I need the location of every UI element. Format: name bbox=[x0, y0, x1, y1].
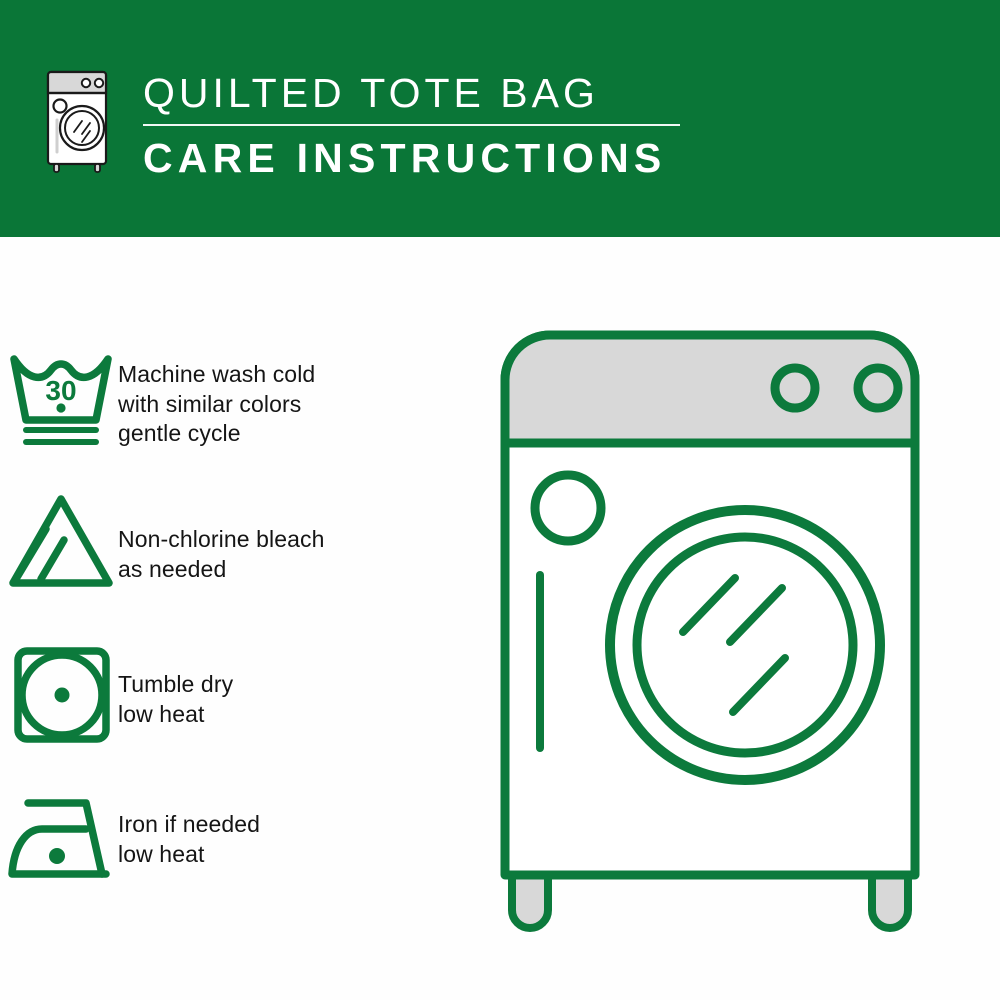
care-text-line: Iron if needed bbox=[118, 810, 260, 840]
care-instructions-infographic: QUILTED TOTE BAG CARE INSTRUCTIONS bbox=[0, 0, 1000, 1000]
non-chlorine-bleach-triangle-icon bbox=[0, 493, 118, 591]
page-title-care-instructions: CARE INSTRUCTIONS bbox=[143, 134, 763, 182]
care-instruction-row-tumble-dry: Tumble dry low heat bbox=[0, 645, 470, 745]
care-instruction-text-bleach: Non-chlorine bleach as needed bbox=[118, 493, 324, 584]
care-instruction-row-bleach: Non-chlorine bleach as needed bbox=[0, 493, 470, 591]
care-instruction-list: 30 Machine wash cold with similar colors… bbox=[0, 237, 490, 1000]
knob-left bbox=[775, 368, 815, 408]
care-instruction-text-iron: Iron if needed low heat bbox=[118, 794, 260, 869]
door-inner-ring bbox=[637, 537, 853, 753]
care-text-line: low heat bbox=[118, 700, 233, 730]
care-text-line: Non-chlorine bleach bbox=[118, 525, 324, 555]
front-load-washing-machine-illustration bbox=[490, 320, 980, 950]
header-banner: QUILTED TOTE BAG CARE INSTRUCTIONS bbox=[0, 0, 1000, 237]
detergent-indicator-circle bbox=[535, 475, 601, 541]
tumble-dry-low-heat-icon bbox=[0, 645, 118, 745]
care-text-line: Tumble dry bbox=[118, 670, 233, 700]
wash-tub-30-gentle-icon: 30 bbox=[0, 350, 118, 450]
header-title-block: QUILTED TOTE BAG CARE INSTRUCTIONS bbox=[143, 70, 763, 182]
care-instruction-row-wash: 30 Machine wash cold with similar colors… bbox=[0, 350, 470, 450]
care-text-line: with similar colors bbox=[118, 390, 315, 420]
care-instruction-row-iron: Iron if needed low heat bbox=[0, 794, 470, 880]
title-divider bbox=[143, 124, 680, 126]
care-text-line: as needed bbox=[118, 555, 324, 585]
care-instruction-text-tumble-dry: Tumble dry low heat bbox=[118, 645, 233, 729]
washing-machine-icon bbox=[44, 68, 112, 176]
wash-temperature-value: 30 bbox=[45, 375, 76, 406]
page-title-product: QUILTED TOTE BAG bbox=[143, 70, 763, 116]
care-text-line: low heat bbox=[118, 840, 260, 870]
iron-low-heat-icon bbox=[0, 794, 118, 880]
care-instruction-text-wash: Machine wash cold with similar colors ge… bbox=[118, 350, 315, 449]
knob-right bbox=[858, 368, 898, 408]
care-text-line: Machine wash cold bbox=[118, 360, 315, 390]
care-text-line: gentle cycle bbox=[118, 419, 315, 449]
